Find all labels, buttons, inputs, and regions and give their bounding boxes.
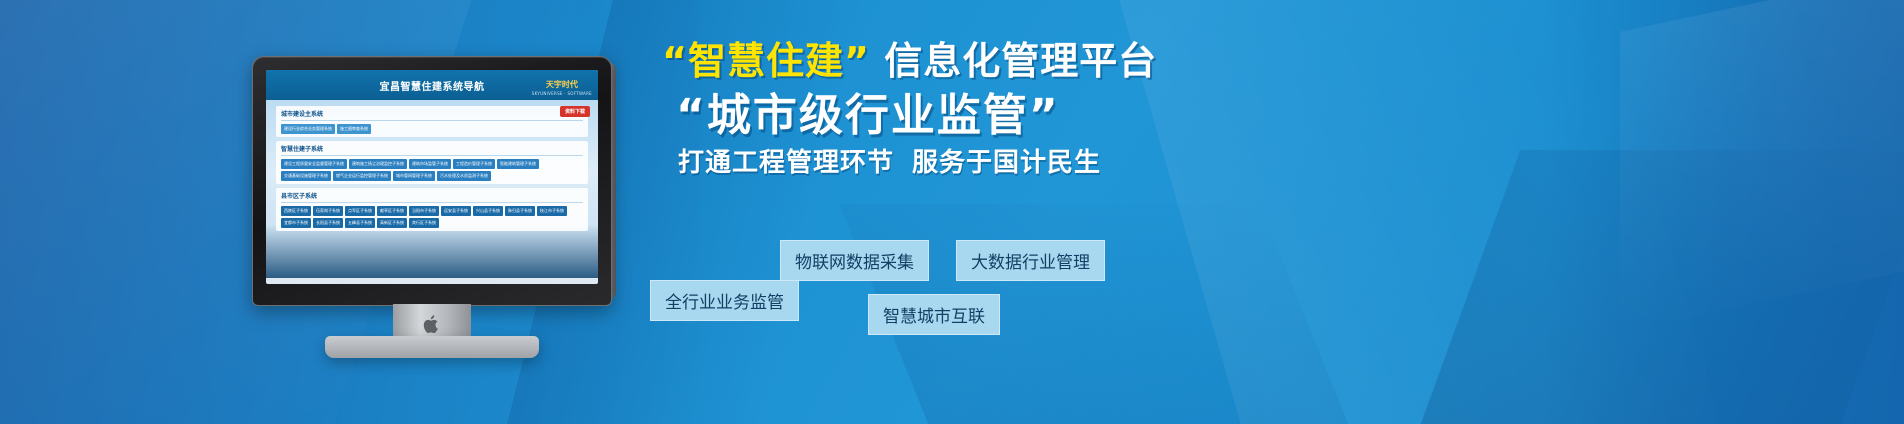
nav-chip[interactable]: 远安县子系统 — [441, 206, 471, 216]
nav-chip[interactable]: 伍家岗子系统 — [313, 206, 343, 216]
feature-tag-smart-city-interconnect[interactable]: 智慧城市互联 — [868, 294, 1000, 335]
subtitle-part-2: 服务于国计民生 — [912, 148, 1101, 178]
quote-close: ” — [844, 39, 870, 83]
feature-tag-industry-supervision[interactable]: 全行业业务监管 — [650, 280, 799, 321]
headline-subtitle: 打通工程管理环节服务于国计民生 — [678, 150, 1228, 176]
nav-chip[interactable]: 建筑市场监管子系统 — [409, 159, 451, 169]
brand-name: 天宇时代 — [546, 80, 578, 89]
download-button[interactable]: 资料下载 — [560, 106, 590, 117]
screen-section-smart-subsystems: 智慧住建子系统 建设工程质量安全监督管理子系统 建筑施工扬尘治理监控子系统 建筑… — [276, 141, 588, 184]
nav-chip[interactable]: 点军区子系统 — [345, 206, 375, 216]
headline-rest-text: 信息化管理平台 — [884, 39, 1157, 83]
section-title: 县市区子系统 — [281, 191, 583, 203]
nav-chip[interactable]: 建设工程质量安全监督管理子系统 — [281, 159, 347, 169]
nav-chip[interactable]: 长阳县子系统 — [313, 218, 343, 228]
nav-chip[interactable]: 智能建筑管理子系统 — [497, 159, 539, 169]
nav-chip[interactable]: 污水处理及水质监测子系统 — [437, 171, 491, 181]
section-title: 城市建设主系统 — [281, 109, 583, 121]
nav-chip[interactable]: 工程造价管理子系统 — [453, 159, 495, 169]
feature-tag-iot-data-collection[interactable]: 物联网数据采集 — [780, 240, 929, 281]
nav-chip[interactable]: 献亭区子系统 — [377, 206, 407, 216]
section-chip-list: 西陵区子系统 伍家岗子系统 点军区子系统 献亭区子系统 当阳市子系统 远安县子系… — [281, 206, 583, 228]
screen-content-area: 资料下载 城市建设主系统 建设行业综合业务管理系统 施工图审查系统 智慧住建子系… — [266, 100, 598, 278]
headline-block: “智慧住建” 信息化管理平台 “城市级行业监管” 打通工程管理环节服务于国计民生 — [648, 42, 1228, 176]
feature-tag-bigdata-management[interactable]: 大数据行业管理 — [956, 240, 1105, 281]
nav-chip[interactable]: 建筑施工扬尘治理监控子系统 — [349, 159, 407, 169]
nav-chip[interactable]: 兴山县子系统 — [473, 206, 503, 216]
monitor-stand-base — [325, 336, 539, 358]
background-facet-lower-right — [1368, 150, 1904, 424]
screen-section-main-system: 城市建设主系统 建设行业综合业务管理系统 施工图审查系统 — [276, 106, 588, 137]
screen-header-title: 宜昌智慧住建系统导航 — [380, 78, 485, 93]
nav-chip[interactable]: 施工图审查系统 — [337, 124, 371, 134]
nav-chip[interactable]: 西陵区子系统 — [281, 206, 311, 216]
section-chip-list: 建设行业综合业务管理系统 施工图审查系统 — [281, 124, 583, 134]
subtitle-part-1: 打通工程管理环节 — [678, 148, 894, 178]
nav-chip[interactable]: 交通基础设施管理子系统 — [281, 171, 331, 181]
nav-chip[interactable]: 秭归县子系统 — [505, 206, 535, 216]
monitor-screen: 宜昌智慧住建系统导航 天宇时代 SKYUNIVERSE · SOFTWARE 资… — [266, 70, 598, 284]
headline-line-1: “智慧住建” 信息化管理平台 — [662, 42, 1228, 80]
screen-header-bar: 宜昌智慧住建系统导航 天宇时代 SKYUNIVERSE · SOFTWARE — [266, 70, 598, 100]
screen-section-county-subsystems: 县市区子系统 西陵区子系统 伍家岗子系统 点军区子系统 献亭区子系统 当阳市子系… — [276, 188, 588, 231]
background-facet-top-right — [1620, 0, 1904, 332]
nav-chip[interactable]: 宜都市子系统 — [281, 218, 311, 228]
apple-logo-icon — [423, 314, 441, 335]
section-title: 智慧住建子系统 — [281, 144, 583, 156]
nav-chip[interactable]: 五峰县子系统 — [345, 218, 375, 228]
headline-highlight-text: 智慧住建 — [688, 39, 844, 83]
quote-open: “ — [662, 39, 688, 83]
brand-subtitle: SKYUNIVERSE · SOFTWARE — [532, 92, 592, 96]
background-facet-right-dark — [1544, 0, 1904, 424]
nav-chip[interactable]: 城市管网管理子系统 — [393, 171, 435, 181]
promo-banner: 宜昌智慧住建系统导航 天宇时代 SKYUNIVERSE · SOFTWARE 资… — [0, 0, 1904, 424]
desktop-monitor-illustration: 宜昌智慧住建系统导航 天宇时代 SKYUNIVERSE · SOFTWARE 资… — [252, 56, 612, 306]
nav-chip[interactable]: 宾行区子系统 — [409, 218, 439, 228]
nav-chip[interactable]: 枝江市子系统 — [537, 206, 567, 216]
nav-chip[interactable]: 当阳市子系统 — [409, 206, 439, 216]
headline-line-2: “城市级行业监管” — [676, 94, 1228, 138]
screen-brand-logo: 天宇时代 SKYUNIVERSE · SOFTWARE — [532, 74, 592, 96]
nav-chip[interactable]: 高新区子系统 — [377, 218, 407, 228]
nav-chip[interactable]: 燃气企业运行监控管理子系统 — [333, 171, 391, 181]
section-chip-list: 建设工程质量安全监督管理子系统 建筑施工扬尘治理监控子系统 建筑市场监管子系统 … — [281, 159, 583, 181]
nav-chip[interactable]: 建设行业综合业务管理系统 — [281, 124, 335, 134]
